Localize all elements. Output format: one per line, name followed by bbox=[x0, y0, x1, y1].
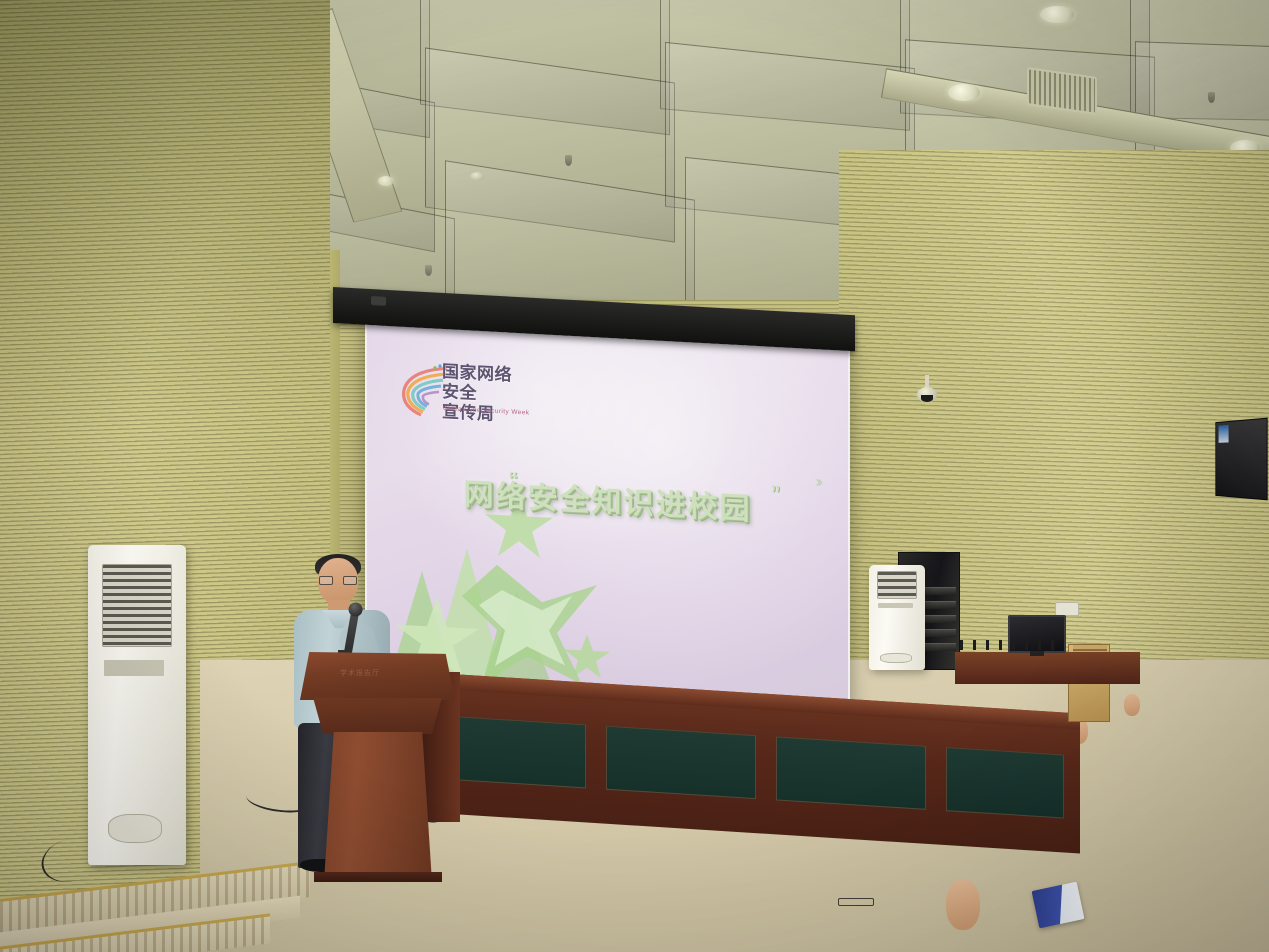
ac-lower-vent bbox=[108, 814, 163, 843]
control-desk bbox=[955, 652, 1140, 684]
monitor-stand bbox=[1030, 651, 1044, 656]
ac-lower-vent bbox=[880, 653, 911, 662]
chevron-right-icon: ›› bbox=[815, 474, 820, 492]
podium: 学术报告厅 bbox=[300, 652, 455, 882]
power-outlet bbox=[1055, 602, 1079, 616]
podium-midsection bbox=[306, 698, 449, 734]
podium-base bbox=[314, 872, 442, 882]
ceiling-downlight bbox=[948, 84, 980, 101]
ceiling-downlight bbox=[378, 176, 394, 186]
logo-title-line1: 国家网络安全 bbox=[442, 362, 512, 403]
sprinkler-head bbox=[565, 155, 572, 166]
ac-grille bbox=[877, 571, 917, 598]
podium-engraved-text: 学术报告厅 bbox=[340, 668, 380, 678]
sprinkler-head bbox=[425, 265, 432, 276]
ac-label bbox=[878, 603, 913, 608]
smoke-detector bbox=[470, 172, 484, 181]
stage-recessed-panel bbox=[776, 736, 926, 809]
glasses-lens bbox=[343, 576, 357, 585]
wall-speaker bbox=[1215, 418, 1267, 501]
speaker-trim bbox=[1219, 425, 1229, 443]
glasses-icon bbox=[319, 576, 357, 585]
audience-face bbox=[946, 880, 980, 930]
audience-face bbox=[1124, 694, 1140, 716]
air-conditioner-right bbox=[869, 565, 925, 670]
glasses-icon bbox=[838, 898, 874, 906]
stage-recessed-panel bbox=[606, 726, 756, 799]
air-conditioner-left bbox=[88, 545, 186, 865]
podium-top: 学术报告厅 bbox=[300, 652, 455, 700]
cybersecurity-week-logo: 国家网络安全 宣传周 China Cybersecurity Week bbox=[395, 356, 525, 429]
podium-body bbox=[324, 732, 432, 882]
sprinkler-head bbox=[1208, 92, 1215, 103]
ac-grille bbox=[102, 564, 173, 647]
auditorium-scene: 国家网络安全 宣传周 China Cybersecurity Week “ 网络… bbox=[0, 0, 1269, 952]
camera-lens bbox=[921, 395, 933, 402]
security-camera-icon bbox=[917, 375, 937, 401]
valance-fitting bbox=[371, 296, 386, 306]
glasses-lens bbox=[319, 576, 333, 585]
ac-label bbox=[104, 660, 165, 676]
quote-close: ” bbox=[771, 479, 780, 510]
ceiling-downlight bbox=[1040, 6, 1074, 23]
microphone-row bbox=[960, 640, 1056, 650]
stage-recessed-panel bbox=[946, 747, 1064, 818]
logo-chinese-title: 国家网络安全 宣传周 bbox=[442, 362, 528, 427]
